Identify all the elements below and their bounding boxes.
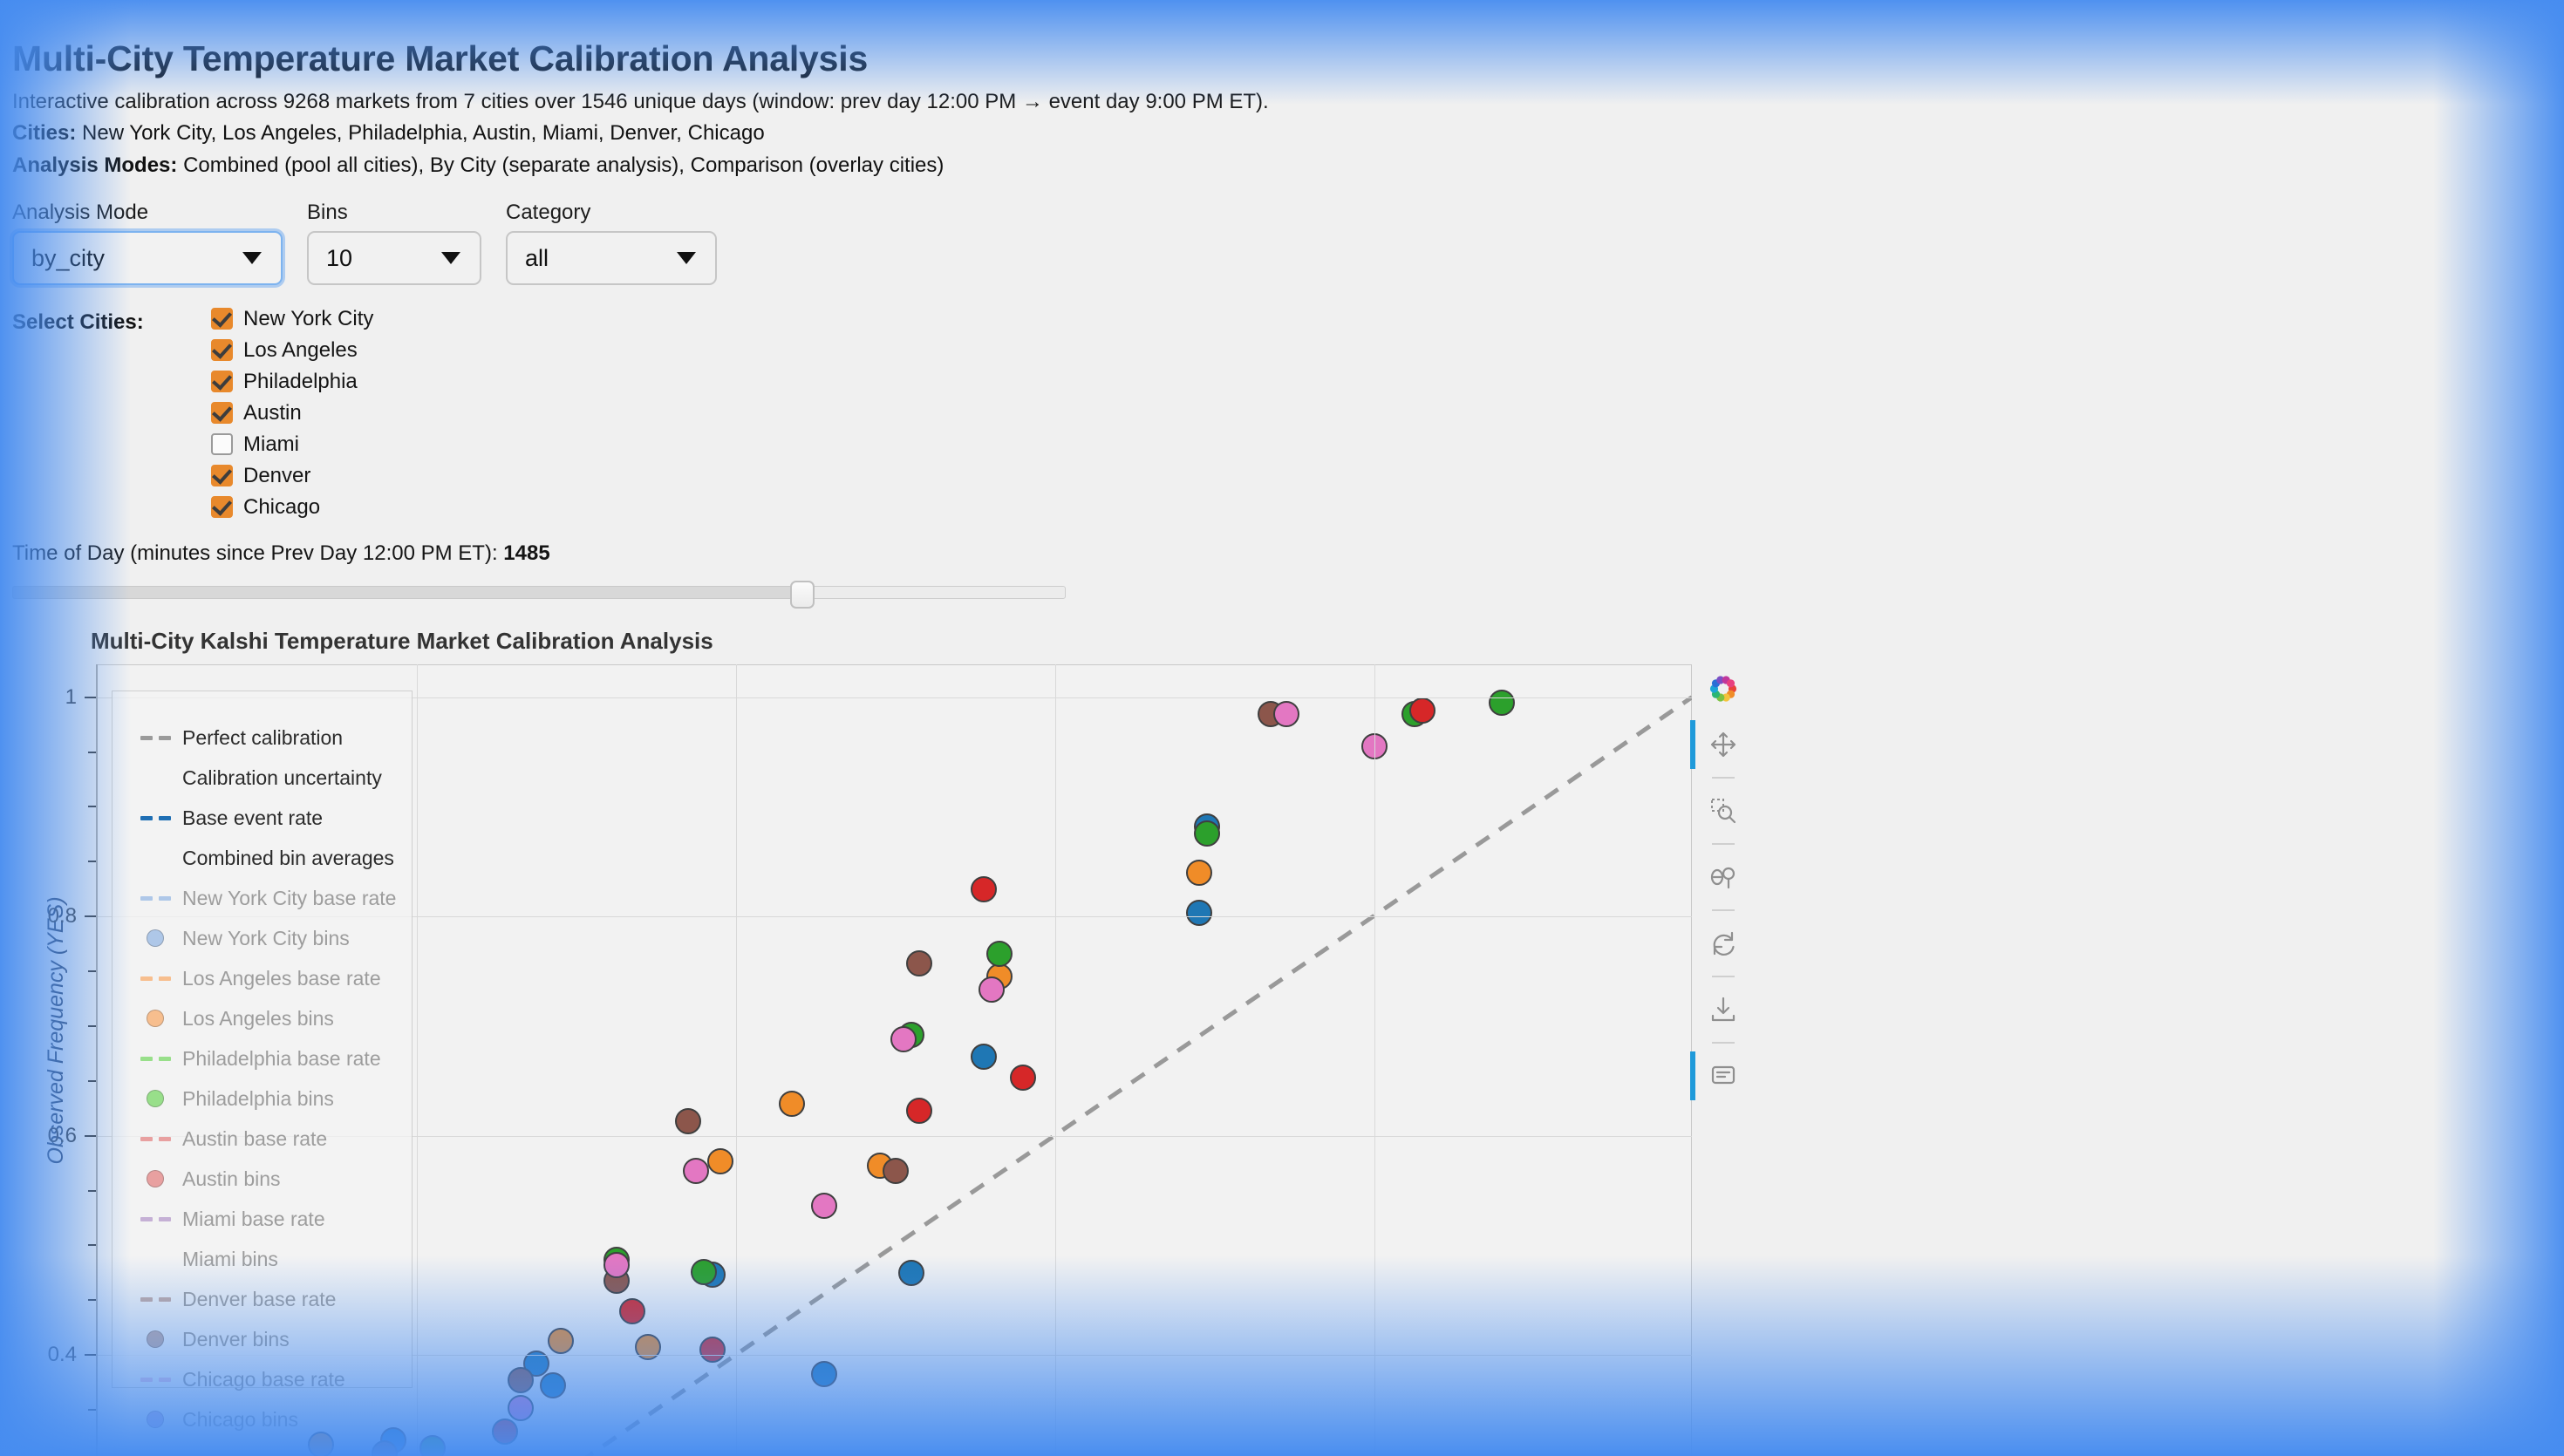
- legend-item-label: Los Angeles bins: [182, 1007, 334, 1031]
- analysis-mode-value: by_city: [14, 245, 105, 272]
- category-label: Category: [506, 201, 717, 231]
- legend-item[interactable]: Austin bins: [113, 1159, 412, 1199]
- legend-marker-dot-icon: [128, 1010, 182, 1027]
- city-checkbox-label: Los Angeles: [243, 338, 358, 363]
- time-of-day-slider-group: Time of Day (minutes since Prev Day 12:0…: [12, 519, 2552, 603]
- app-root: Multi-City Temperature Market Calibratio…: [0, 0, 2564, 1456]
- legend-item[interactable]: Los Angeles base rate: [113, 958, 412, 998]
- legend-item-label: Denver bins: [182, 1328, 290, 1351]
- legend-item[interactable]: Base event rate: [113, 798, 412, 838]
- y-axis-tick-mark: [85, 697, 96, 698]
- plotly-modebar: [1699, 661, 1748, 1104]
- legend-dashed-line-icon: [128, 1217, 182, 1221]
- bins-control: Bins 10: [307, 201, 481, 285]
- zoom-in-out-icon[interactable]: [1699, 849, 1748, 905]
- checkbox-checked-icon[interactable]: [211, 402, 233, 424]
- city-selector-label: Select Cities:: [12, 307, 211, 519]
- scatter-point[interactable]: [508, 1367, 534, 1393]
- scatter-point[interactable]: [508, 1395, 534, 1421]
- city-checkbox-label: Denver: [243, 464, 310, 488]
- scatter-point[interactable]: [1186, 860, 1212, 886]
- controls-row: Analysis Mode by_city Bins 10 Category a…: [12, 181, 2552, 285]
- cities-summary: Cities: New York City, Los Angeles, Phil…: [12, 118, 2552, 149]
- scatter-point[interactable]: [1194, 820, 1220, 847]
- legend-item[interactable]: New York City bins: [113, 918, 412, 958]
- analysis-modes-summary: Analysis Modes: Combined (pool all citie…: [12, 150, 2552, 181]
- y-axis-minor-tick: [88, 1299, 96, 1301]
- legend-item[interactable]: Perfect calibration: [113, 718, 412, 758]
- scatter-point[interactable]: [419, 1435, 446, 1456]
- legend-item-label: Base event rate: [182, 806, 323, 830]
- scatter-point[interactable]: [540, 1372, 566, 1398]
- scatter-point[interactable]: [811, 1193, 837, 1219]
- legend-item-label: New York City base rate: [182, 887, 396, 910]
- y-axis-minor-tick: [88, 970, 96, 972]
- legend-item[interactable]: Miami bins: [113, 1239, 412, 1279]
- legend-item-label: Philadelphia base rate: [182, 1047, 381, 1071]
- bins-select[interactable]: 10: [307, 231, 481, 285]
- modebar-separator: [1699, 839, 1748, 849]
- y-axis-minor-tick: [88, 861, 96, 862]
- scatter-point[interactable]: [1489, 690, 1515, 716]
- city-checkbox-list: New York CityLos AngelesPhiladelphiaAust…: [211, 307, 373, 519]
- chevron-down-icon: [441, 252, 460, 264]
- checkbox-checked-icon[interactable]: [211, 308, 233, 330]
- toggle-spike-lines-icon[interactable]: [1699, 1048, 1748, 1104]
- analysis-mode-control: Analysis Mode by_city: [12, 201, 283, 285]
- y-axis-minor-tick: [88, 1409, 96, 1411]
- y-axis-tick-mark: [85, 1354, 96, 1356]
- legend-item-label: Denver base rate: [182, 1288, 336, 1311]
- legend-item-label: New York City bins: [182, 927, 350, 950]
- scatter-point[interactable]: [971, 876, 997, 902]
- analysis-mode-label: Analysis Mode: [12, 201, 283, 231]
- legend-item[interactable]: Philadelphia bins: [113, 1078, 412, 1119]
- modebar-separator: [1699, 1038, 1748, 1048]
- vertical-gridline: [1055, 664, 1056, 1456]
- legend-item[interactable]: Los Angeles bins: [113, 998, 412, 1038]
- scatter-point[interactable]: [691, 1259, 717, 1285]
- legend-dashed-line-icon: [128, 816, 182, 820]
- category-control: Category all: [506, 201, 717, 285]
- legend-marker-dot-icon: [128, 1090, 182, 1107]
- y-axis-minor-tick: [88, 1190, 96, 1192]
- bins-value: 10: [309, 245, 352, 272]
- checkbox-checked-icon[interactable]: [211, 371, 233, 392]
- city-checkbox-label: Chicago: [243, 495, 320, 520]
- scatter-point[interactable]: [1186, 900, 1212, 926]
- modebar-active-indicator: [1690, 720, 1695, 769]
- modebar-separator: [1699, 905, 1748, 915]
- scatter-point[interactable]: [1409, 697, 1435, 724]
- cities-summary-label: Cities:: [12, 121, 76, 145]
- time-of-day-slider[interactable]: [12, 581, 1066, 603]
- city-checkbox-item[interactable]: Los Angeles: [211, 338, 373, 362]
- legend-item-label: Miami bins: [182, 1248, 278, 1271]
- y-axis-minor-tick: [88, 1244, 96, 1246]
- legend-item[interactable]: Calibration uncertainty: [113, 758, 412, 798]
- legend-dashed-line-icon: [128, 1057, 182, 1061]
- legend-dashed-line-icon: [128, 736, 182, 740]
- slider-track-fill: [12, 586, 803, 599]
- scatter-point[interactable]: [890, 1026, 917, 1052]
- scatter-point[interactable]: [898, 1260, 924, 1286]
- modebar-separator: [1699, 971, 1748, 982]
- y-axis: Observed Frequency (YES) 10.80.60.4: [0, 664, 96, 1456]
- slider-thumb[interactable]: [790, 581, 815, 609]
- reset-axes-icon[interactable]: [1699, 915, 1748, 971]
- legend-item-label: Chicago bins: [182, 1408, 298, 1432]
- scatter-point[interactable]: [779, 1091, 805, 1117]
- legend-item[interactable]: Chicago bins: [113, 1399, 412, 1439]
- vertical-gridline: [1374, 664, 1375, 1456]
- scatter-point[interactable]: [1010, 1065, 1036, 1091]
- scatter-point[interactable]: [986, 941, 1013, 967]
- download-plot-icon[interactable]: [1699, 982, 1748, 1038]
- legend-dashed-line-icon: [128, 896, 182, 901]
- modebar-active-indicator: [1690, 1051, 1695, 1100]
- chart-legend[interactable]: Perfect calibrationCalibration uncertain…: [112, 691, 413, 1388]
- legend-item-label: Austin base rate: [182, 1127, 327, 1151]
- page-description: Interactive calibration across 9268 mark…: [12, 79, 2552, 118]
- city-selector: Select Cities: New York CityLos AngelesP…: [12, 285, 2552, 519]
- city-checkbox-item[interactable]: Chicago: [211, 495, 373, 519]
- city-checkbox-item[interactable]: Philadelphia: [211, 370, 373, 393]
- y-axis-tick-label: 1: [65, 685, 77, 710]
- time-of-day-label-text: Time of Day (minutes since Prev Day 12:0…: [12, 541, 503, 565]
- page-title: Multi-City Temperature Market Calibratio…: [12, 0, 2552, 79]
- checkbox-checked-icon[interactable]: [211, 496, 233, 518]
- y-axis-label: Observed Frequency (YES): [44, 725, 69, 1336]
- time-of-day-value: 1485: [503, 541, 549, 565]
- legend-item-label: Calibration uncertainty: [182, 766, 382, 790]
- legend-marker-dot-icon: [128, 929, 182, 947]
- scatter-point[interactable]: [979, 976, 1005, 1003]
- legend-item[interactable]: New York City base rate: [113, 878, 412, 918]
- chevron-down-icon: [677, 252, 696, 264]
- scatter-point[interactable]: [548, 1328, 574, 1354]
- modebar-separator: [1699, 772, 1748, 783]
- city-checkbox-item[interactable]: Denver: [211, 464, 373, 487]
- scatter-point[interactable]: [883, 1158, 909, 1184]
- y-axis-minor-tick: [88, 752, 96, 753]
- city-checkbox-label: Austin: [243, 401, 302, 425]
- city-checkbox-label: Philadelphia: [243, 370, 358, 394]
- chart-title: Multi-City Kalshi Temperature Market Cal…: [91, 628, 713, 655]
- scatter-point[interactable]: [1273, 701, 1299, 727]
- legend-item-label: Philadelphia bins: [182, 1087, 334, 1111]
- legend-marker-dot-icon: [128, 1330, 182, 1348]
- y-axis-tick-label: 0.8: [48, 904, 77, 929]
- legend-item[interactable]: Denver bins: [113, 1319, 412, 1359]
- y-axis-tick-label: 0.6: [48, 1124, 77, 1148]
- y-axis-tick-label: 0.4: [48, 1343, 77, 1367]
- legend-item[interactable]: Philadelphia base rate: [113, 1038, 412, 1078]
- analysis-modes-label: Analysis Modes:: [12, 153, 177, 177]
- time-of-day-label: Time of Day (minutes since Prev Day 12:0…: [12, 541, 2552, 566]
- scatter-point[interactable]: [683, 1158, 709, 1184]
- scatter-point[interactable]: [492, 1419, 518, 1445]
- y-axis-minor-tick: [88, 1080, 96, 1082]
- checkbox-unchecked-icon[interactable]: [211, 433, 233, 455]
- checkbox-checked-icon[interactable]: [211, 339, 233, 361]
- legend-marker-dot-icon: [128, 1170, 182, 1187]
- legend-item-label: Austin bins: [182, 1167, 281, 1191]
- scatter-point[interactable]: [811, 1361, 837, 1387]
- scatter-point[interactable]: [675, 1108, 701, 1134]
- analysis-modes-value: Combined (pool all cities), By City (sep…: [183, 153, 944, 177]
- legend-dashed-line-icon: [128, 1137, 182, 1141]
- legend-item[interactable]: Miami base rate: [113, 1199, 412, 1239]
- analysis-mode-select[interactable]: by_city: [12, 231, 283, 285]
- city-checkbox-item[interactable]: Miami: [211, 432, 373, 456]
- legend-dashed-line-icon: [128, 1378, 182, 1382]
- category-select[interactable]: all: [506, 231, 717, 285]
- scatter-point[interactable]: [699, 1337, 726, 1363]
- y-axis-minor-tick: [88, 806, 96, 807]
- legend-item-label: Miami base rate: [182, 1208, 325, 1231]
- scatter-point[interactable]: [635, 1334, 661, 1360]
- legend-item[interactable]: Denver base rate: [113, 1279, 412, 1319]
- legend-dashed-line-icon: [128, 1297, 182, 1302]
- scatter-point[interactable]: [906, 950, 932, 976]
- city-checkbox-label: Miami: [243, 432, 299, 457]
- y-axis-tick-mark: [85, 915, 96, 917]
- city-checkbox-label: New York City: [243, 307, 373, 331]
- legend-item[interactable]: Chicago base rate: [113, 1359, 412, 1399]
- legend-dashed-line-icon: [128, 976, 182, 981]
- checkbox-checked-icon[interactable]: [211, 465, 233, 486]
- page-content: Multi-City Temperature Market Calibratio…: [0, 0, 2564, 603]
- cities-summary-value: New York City, Los Angeles, Philadelphia…: [82, 121, 765, 145]
- scatter-point[interactable]: [603, 1252, 630, 1278]
- scatter-point[interactable]: [707, 1148, 733, 1174]
- legend-marker-dot-icon: [128, 1411, 182, 1428]
- y-axis-tick-mark: [85, 1135, 96, 1137]
- legend-item[interactable]: Combined bin averages: [113, 838, 412, 878]
- legend-item[interactable]: Austin base rate: [113, 1119, 412, 1159]
- vertical-gridline: [417, 664, 418, 1456]
- scatter-point[interactable]: [619, 1298, 645, 1324]
- legend-item-label: Combined bin averages: [182, 847, 394, 870]
- scatter-point[interactable]: [971, 1044, 997, 1070]
- zoom-box-icon[interactable]: [1699, 783, 1748, 839]
- pan-icon[interactable]: [1699, 717, 1748, 772]
- chevron-down-icon: [242, 252, 262, 264]
- scatter-point[interactable]: [906, 1098, 932, 1124]
- legend-item-label: Los Angeles base rate: [182, 967, 381, 990]
- bins-label: Bins: [307, 201, 481, 231]
- category-value: all: [508, 245, 549, 272]
- y-axis-minor-tick: [88, 1025, 96, 1027]
- legend-item-label: Chicago base rate: [182, 1368, 345, 1391]
- city-checkbox-item[interactable]: Austin: [211, 401, 373, 425]
- plotly-logo-icon[interactable]: [1699, 661, 1748, 717]
- vertical-gridline: [736, 664, 737, 1456]
- legend-item-label: Perfect calibration: [182, 726, 343, 750]
- city-checkbox-item[interactable]: New York City: [211, 307, 373, 330]
- calibration-chart: Multi-City Kalshi Temperature Market Cal…: [0, 610, 1762, 1456]
